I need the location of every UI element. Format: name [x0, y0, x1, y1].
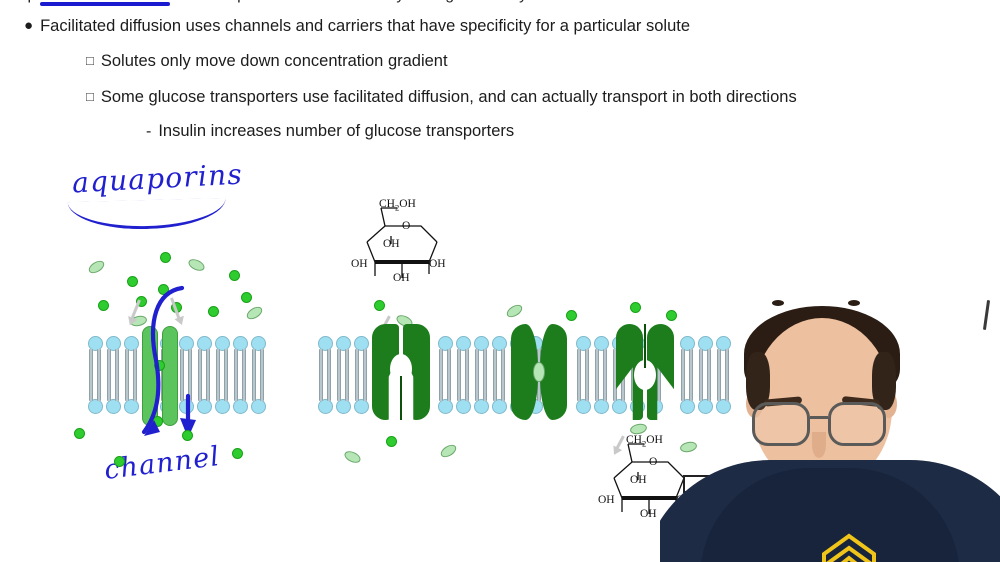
solute-ellipse	[343, 449, 363, 465]
handwritten-underline-aquaporins	[68, 198, 227, 231]
lipid-tails	[89, 349, 101, 401]
solute-ellipse	[187, 257, 207, 273]
bullet-item-glucose-transporters: □Some glucose transporters use facilitat…	[86, 89, 797, 106]
phospholipid	[104, 336, 122, 414]
bound-solute	[533, 362, 545, 382]
slide-canvas: Simple diffusion moves small nonpolar mo…	[0, 0, 1000, 562]
presenter-eye	[848, 300, 860, 306]
phospholipid	[86, 336, 104, 414]
glucose-label-oh: OH	[383, 238, 400, 250]
phospholipid-bilayer-segment	[316, 336, 370, 414]
glasses-bridge	[810, 416, 828, 419]
bullet-item-concentration-gradient: □Solutes only move down concentration gr…	[86, 53, 448, 70]
bullet-text: Facilitated diffusion uses channels and …	[40, 17, 690, 35]
carrier-seam	[644, 324, 646, 368]
solute-ellipse	[87, 258, 107, 275]
solute-circle	[630, 302, 641, 313]
handwritten-label-aquaporins: aquaporins	[71, 158, 243, 200]
solute-circle	[114, 456, 125, 467]
lipid-head	[88, 399, 103, 414]
glucose-label-ring-oxygen: O	[402, 220, 410, 232]
bullet-item-insulin: -Insulin increases number of glucose tra…	[146, 123, 514, 140]
glucose-label-ch2oh: CH2OH	[379, 198, 416, 212]
solute-circle	[74, 428, 85, 439]
solute-circle	[98, 300, 109, 311]
solute-circle	[232, 448, 243, 459]
shirt-logo-icon	[820, 532, 878, 562]
glucose-label-oh: OH	[598, 494, 615, 506]
bullet-text: Solutes only move down concentration gra…	[101, 52, 448, 70]
solute-circle	[566, 310, 577, 321]
bullet-item-facilitated-diffusion: ●Facilitated diffusion uses channels and…	[24, 18, 690, 35]
solute-circle	[374, 300, 385, 311]
bullet-dash-icon: -	[146, 124, 151, 140]
glucose-label-oh: OH	[630, 474, 647, 486]
blue-underline-mark	[40, 2, 170, 6]
carrier-protein-occluded	[510, 324, 568, 420]
glucose-label-oh: OH	[351, 258, 368, 270]
glucose-label-ch2oh: CH2OH	[626, 434, 663, 448]
channel-protein-diagram	[86, 248, 286, 473]
glucose-structure-top: CH2OH O OH OH OH OH	[345, 196, 465, 288]
solute-ellipse	[439, 442, 459, 459]
glasses-lens-left	[752, 402, 810, 446]
presenter-nose	[812, 432, 826, 458]
bullet-dot-icon: ●	[24, 18, 33, 33]
carrier-protein-open-outward	[372, 324, 430, 420]
flow-direction-arrow	[126, 286, 276, 446]
bullet-text: Insulin increases number of glucose tran…	[158, 122, 514, 140]
bullet-text: Some glucose transporters use facilitate…	[101, 88, 797, 106]
glucose-label-ring-oxygen: O	[649, 456, 657, 468]
glucose-label-oh: OH	[429, 258, 446, 270]
solute-circle	[229, 270, 240, 281]
solute-circle	[386, 436, 397, 447]
bullet-square-icon: □	[86, 90, 94, 103]
glucose-label-oh: OH	[393, 272, 410, 284]
solute-ellipse	[505, 302, 525, 319]
glucose-label-oh: OH	[640, 508, 657, 520]
solute-circle	[160, 252, 171, 263]
presenter-webcam-overlay[interactable]	[660, 282, 1000, 562]
presenter-eye	[772, 300, 784, 306]
glasses-lens-right	[828, 402, 886, 446]
solute-circle	[182, 430, 193, 441]
carrier-seam	[400, 376, 402, 420]
bullet-square-icon: □	[86, 54, 94, 67]
